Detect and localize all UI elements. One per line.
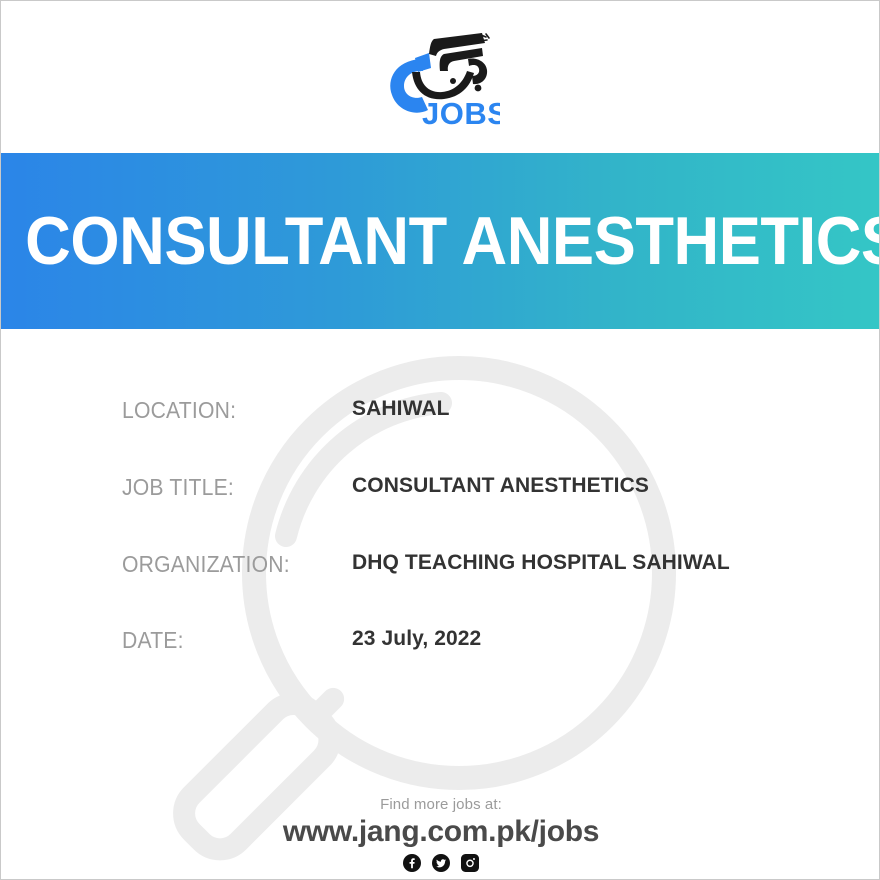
logo-header: JOBS xyxy=(1,1,880,153)
detail-row-organization: ORGANIZATION: DHQ TEACHING HOSPITAL SAHI… xyxy=(1,551,880,585)
detail-value: CONSULTANT ANESTHETICS xyxy=(352,474,649,498)
social-links xyxy=(1,854,880,872)
detail-label: JOB TITLE: xyxy=(122,474,234,501)
svg-text:JOBS: JOBS xyxy=(422,96,500,129)
detail-row-job-title: JOB TITLE: CONSULTANT ANESTHETICS xyxy=(1,474,880,508)
banner-title: CONSULTANT ANESTHETICS xyxy=(1,207,880,275)
footer-caption: Find more jobs at: xyxy=(1,796,880,814)
detail-label: DATE: xyxy=(122,627,184,654)
detail-value: 23 July, 2022 xyxy=(352,627,481,651)
footer-url[interactable]: www.jang.com.pk/jobs xyxy=(1,815,880,849)
jang-jobs-logo[interactable]: JOBS xyxy=(382,25,500,129)
footer: Find more jobs at: www.jang.com.pk/jobs xyxy=(1,796,880,880)
job-details-list: LOCATION: SAHIWAL JOB TITLE: CONSULTANT … xyxy=(1,329,880,779)
detail-value: DHQ TEACHING HOSPITAL SAHIWAL xyxy=(352,551,730,575)
facebook-icon[interactable] xyxy=(403,854,421,872)
instagram-icon[interactable] xyxy=(461,854,479,872)
job-posting-card: JOBS CONSULTANT ANESTHETICS LOCAT xyxy=(0,0,880,880)
detail-label: LOCATION: xyxy=(122,397,236,424)
detail-value: SAHIWAL xyxy=(352,397,450,421)
detail-row-date: DATE: 23 July, 2022 xyxy=(1,627,880,661)
twitter-icon[interactable] xyxy=(432,854,450,872)
detail-row-location: LOCATION: SAHIWAL xyxy=(1,397,880,431)
detail-label: ORGANIZATION: xyxy=(122,551,290,578)
job-title-banner: CONSULTANT ANESTHETICS xyxy=(1,153,880,329)
